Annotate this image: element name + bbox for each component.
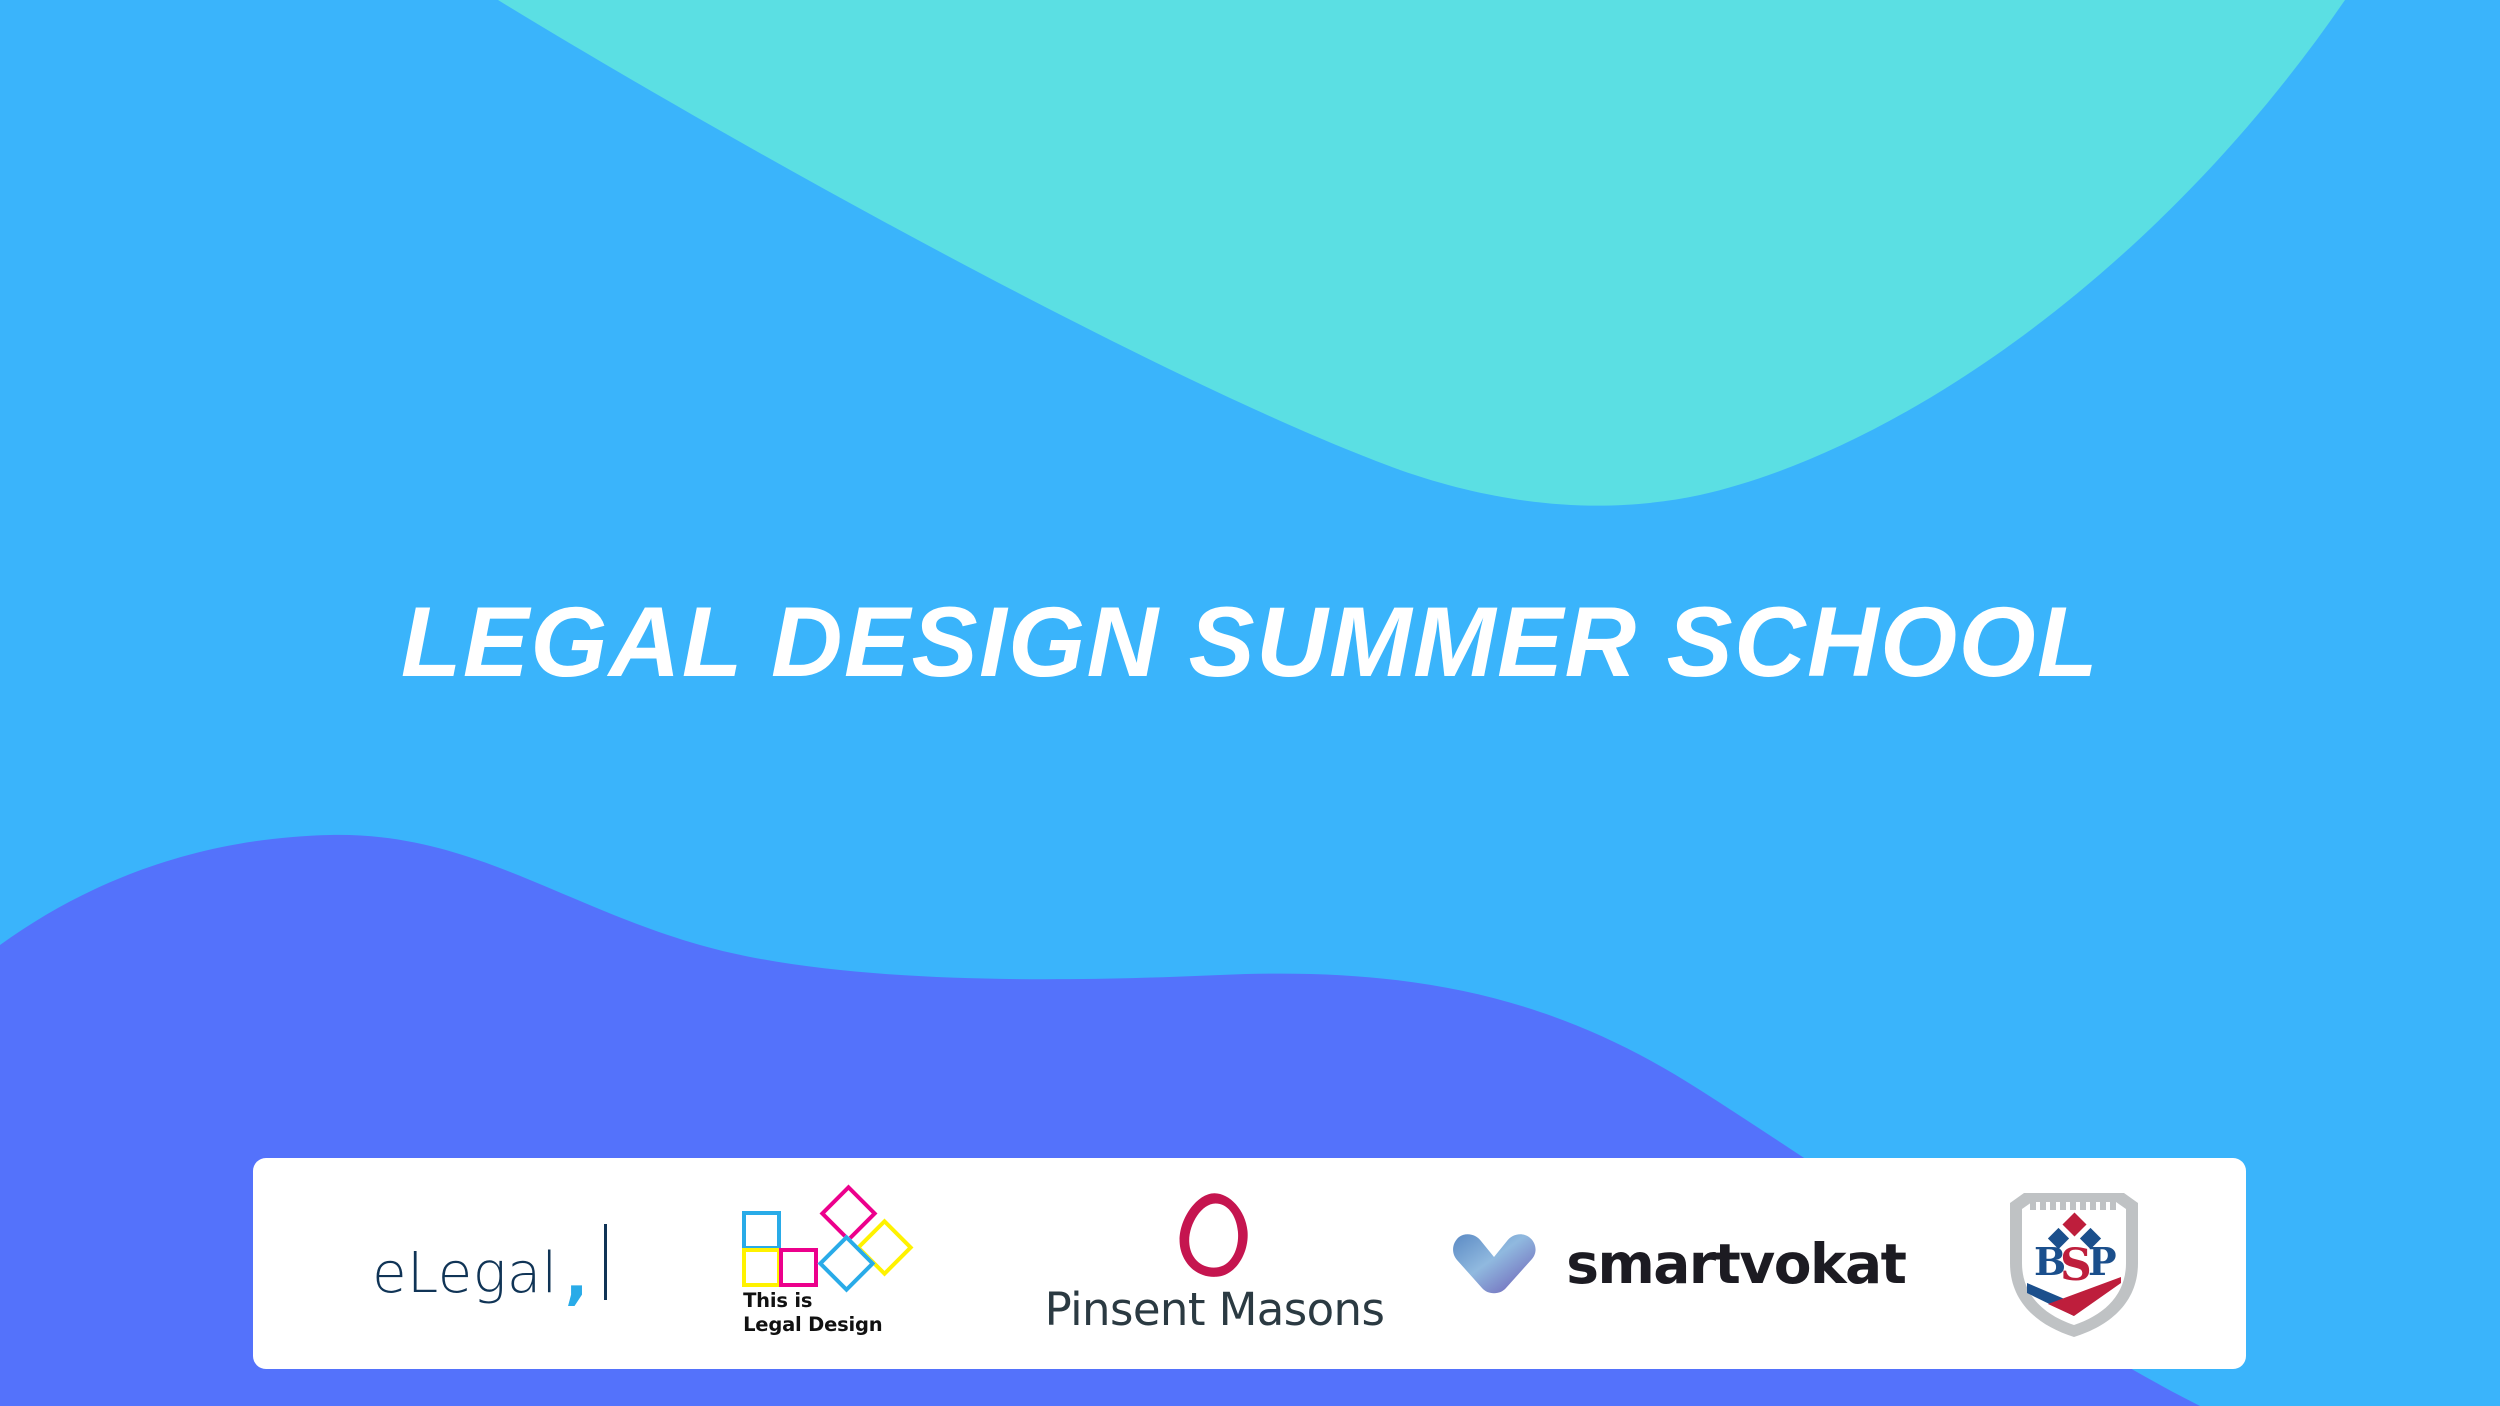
partner-logo-bsp[interactable]: B S P [1974, 1158, 2174, 1369]
smartvokat-wordmark: smartvokat [1566, 1232, 1905, 1296]
slide-canvas: LEGAL DESIGN SUMMER SCHOOL eLegal , [0, 0, 2500, 1406]
squares-and-diamonds-icon [742, 1191, 927, 1287]
tild-line-1: This is [743, 1289, 882, 1313]
pinsent-masons-wordmark: Pinsent Masons [1045, 1283, 1385, 1336]
svg-text:P: P [2088, 1239, 2117, 1284]
partner-logo-this-is-legal-design[interactable]: This is Legal Design [742, 1158, 962, 1369]
egg-ring-icon [1177, 1191, 1251, 1279]
chevron-down-mark-icon [1448, 1233, 1540, 1295]
partner-logo-smartvokat[interactable]: smartvokat [1467, 1158, 1887, 1369]
page-title: LEGAL DESIGN SUMMER SCHOOL [0, 592, 2500, 691]
elegal-wordmark: eLegal [372, 1246, 558, 1302]
shield-crest-icon: B S P [2000, 1185, 2148, 1343]
svg-text:S: S [2060, 1240, 2092, 1291]
partner-logo-elegal[interactable]: eLegal , [325, 1158, 655, 1369]
text-cursor-bar-icon [604, 1224, 607, 1300]
partner-logo-bar: eLegal , This is Legal Design [253, 1158, 2246, 1369]
elegal-comma-icon: , [565, 1245, 589, 1307]
partner-logo-pinsent-masons[interactable]: Pinsent Masons [1049, 1158, 1379, 1369]
tild-line-2: Legal Design [743, 1313, 882, 1337]
